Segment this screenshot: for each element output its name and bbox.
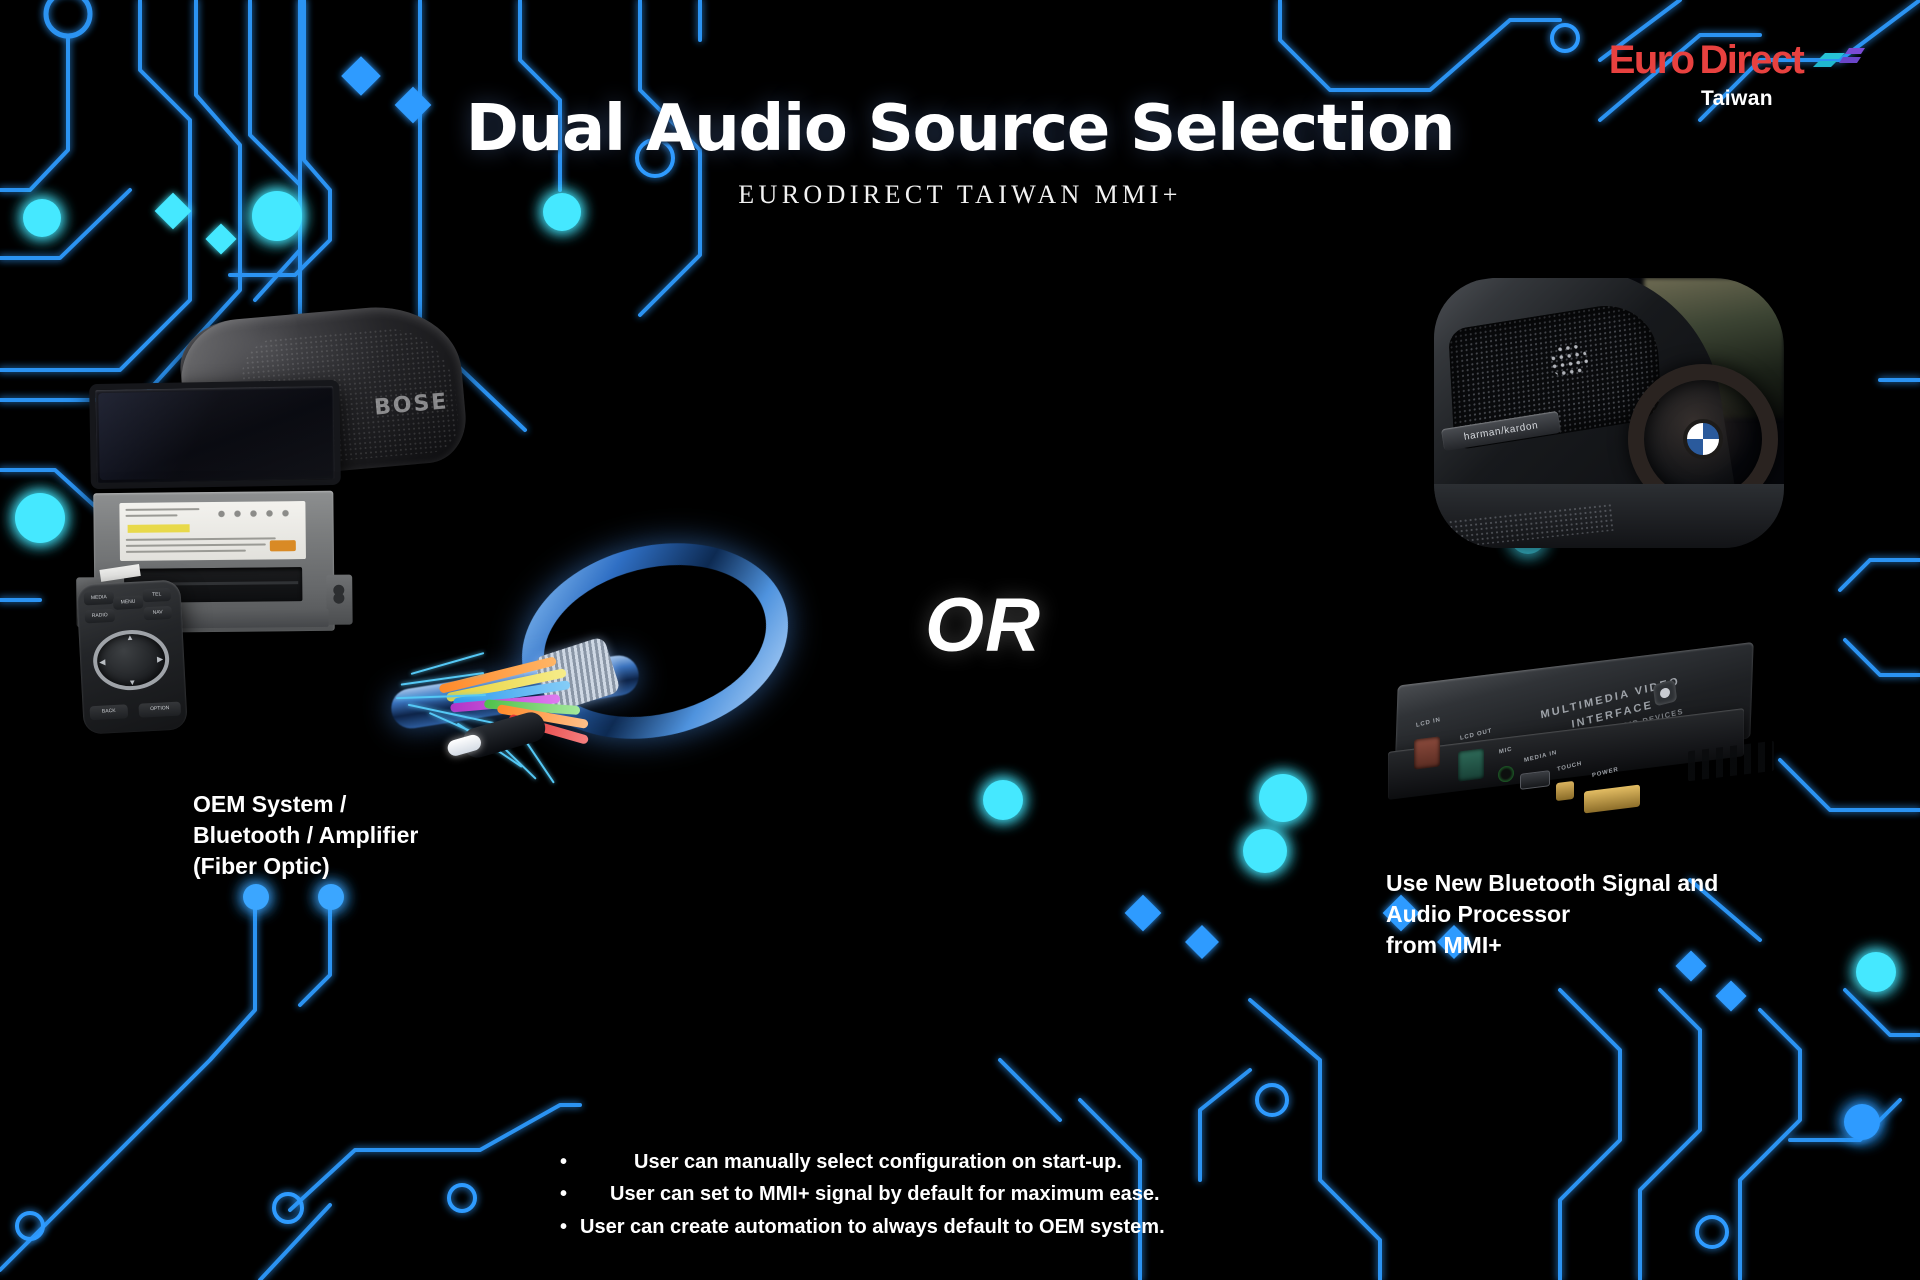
- caption-line: OEM System /: [193, 789, 493, 820]
- port-lcd-in[interactable]: [1414, 736, 1440, 769]
- page-subtitle: EURODIRECT TAIWAN MMI+: [0, 180, 1920, 210]
- fiber-hair: [411, 652, 485, 675]
- bullet-text: User can manually select configuration o…: [634, 1146, 1122, 1178]
- logo-region-text: Taiwan: [1612, 87, 1862, 111]
- logo-direct-text: Direct: [1699, 40, 1803, 80]
- feature-bullet-list: • User can manually select configuration…: [560, 1146, 1360, 1243]
- or-divider-label: OR: [925, 582, 1041, 669]
- caption-line: from MMI+: [1386, 930, 1746, 961]
- mmi-interface-box-photo: MULTIMEDIA VIDEO INTERFACE FOR iOS & AND…: [1378, 660, 1778, 840]
- idrive-controller[interactable]: MEDIA MENU TEL RADIO NAV ▲ ▼ ◀ ▶ BACK OP…: [76, 579, 188, 734]
- caption-line: Use New Bluetooth Signal and: [1386, 868, 1746, 899]
- logo-wordmark: EuroDirect: [1612, 40, 1862, 80]
- right-option-caption: Use New Bluetooth Signal and Audio Proce…: [1386, 868, 1746, 960]
- bmw-roundel-icon: [1683, 419, 1723, 459]
- brand-logo[interactable]: EuroDirect Taiwan: [1612, 40, 1862, 111]
- bullet-marker-icon: •: [560, 1178, 574, 1210]
- bullet-marker-icon: •: [560, 1211, 574, 1243]
- idrive-button-back[interactable]: BACK: [90, 704, 129, 720]
- head-unit-bracket-right: [326, 575, 353, 625]
- idrive-button-menu[interactable]: MENU: [113, 595, 144, 610]
- idrive-arrow-right-icon: ▶: [157, 654, 164, 663]
- idrive-arrow-down-icon: ▼: [128, 678, 136, 687]
- port-power[interactable]: [1584, 785, 1640, 814]
- port-media-in-hdmi[interactable]: [1520, 770, 1550, 790]
- idrive-button-radio[interactable]: RADIO: [84, 609, 115, 624]
- port-touch[interactable]: [1556, 781, 1574, 801]
- bullet-marker-icon: •: [560, 1146, 574, 1178]
- slide-root: Dual Audio Source Selection EURODIRECT T…: [0, 0, 1920, 1280]
- caption-line: (Fiber Optic): [193, 851, 493, 882]
- bullet-text: User can create automation to always def…: [580, 1211, 1165, 1243]
- harman-kardon-speaker-photo: harman/kardon: [1434, 278, 1784, 548]
- bullet-item: • User can set to MMI+ signal by default…: [560, 1178, 1360, 1210]
- head-unit-label: [119, 501, 306, 561]
- port-lcd-out[interactable]: [1458, 748, 1484, 781]
- bullet-text: User can set to MMI+ signal by default f…: [610, 1178, 1160, 1210]
- logo-swoosh-icon: [1809, 41, 1865, 80]
- idrive-arrow-left-icon: ◀: [99, 657, 106, 666]
- door-trim-panel: [1434, 484, 1784, 548]
- idrive-arrow-up-icon: ▲: [126, 633, 134, 642]
- idrive-rotary-wheel[interactable]: ▲ ▼ ◀ ▶: [92, 628, 171, 692]
- caption-line: Audio Processor: [1386, 899, 1746, 930]
- idrive-button-nav[interactable]: NAV: [143, 606, 172, 620]
- idrive-button-tel[interactable]: TEL: [142, 588, 171, 602]
- bullet-item: • User can create automation to always d…: [560, 1211, 1360, 1243]
- idrive-button-option[interactable]: OPTION: [138, 702, 181, 718]
- logo-euro-text: Euro: [1609, 40, 1694, 80]
- idrive-button-media[interactable]: MEDIA: [84, 591, 115, 606]
- left-option-caption: OEM System / Bluetooth / Amplifier (Fibe…: [193, 789, 493, 881]
- caption-line: Bluetooth / Amplifier: [193, 820, 493, 851]
- oem-display-screen: [89, 380, 341, 489]
- bullet-item: • User can manually select configuration…: [560, 1146, 1360, 1178]
